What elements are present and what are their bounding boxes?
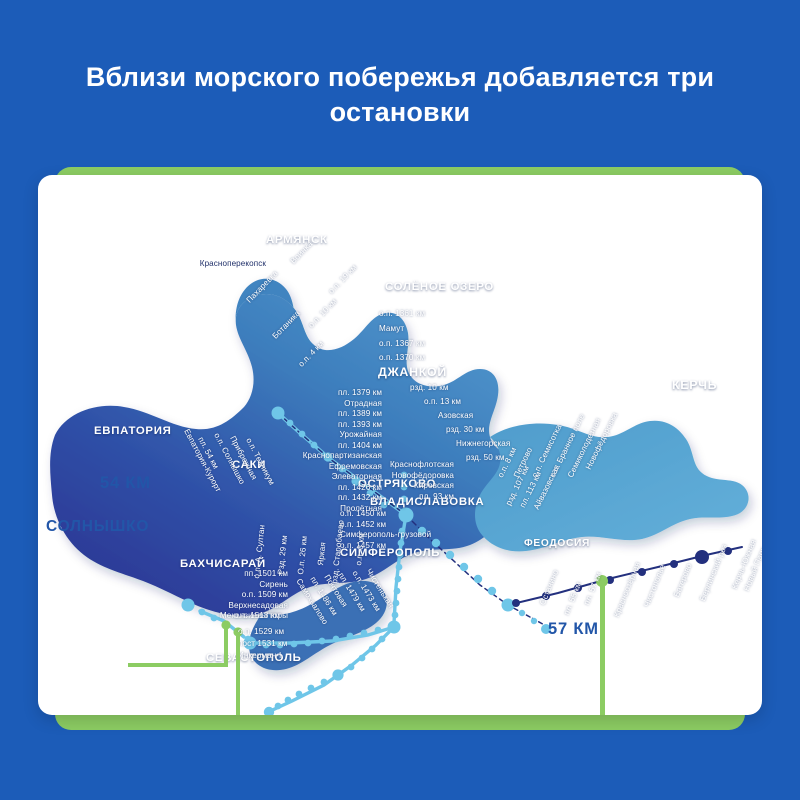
callout-54km: 54 КМ [100, 474, 151, 493]
leader-54km-horizontal [128, 663, 228, 667]
page-title: Вблизи морского побережья добавляется тр… [0, 60, 800, 130]
leader-57km-vertical [600, 581, 605, 715]
peninsula-shape [50, 279, 748, 670]
callout-solnyshko: СОЛНЫШКО [46, 518, 149, 536]
map-graphic [38, 175, 762, 715]
infographic-root: Вблизи морского побережья добавляется тр… [0, 0, 800, 800]
leader-54km-vertical [224, 625, 228, 667]
callout-57km: 57 КМ [548, 620, 599, 639]
crimea-map: АРМЯНСК СОЛЁНОЕ ОЗЕРО ДЖАНКОЙ КЕРЧЬ ЕВПА… [38, 175, 762, 715]
map-card: АРМЯНСК СОЛЁНОЕ ОЗЕРО ДЖАНКОЙ КЕРЧЬ ЕВПА… [38, 175, 762, 715]
leader-solnyshko-vertical [236, 632, 240, 715]
